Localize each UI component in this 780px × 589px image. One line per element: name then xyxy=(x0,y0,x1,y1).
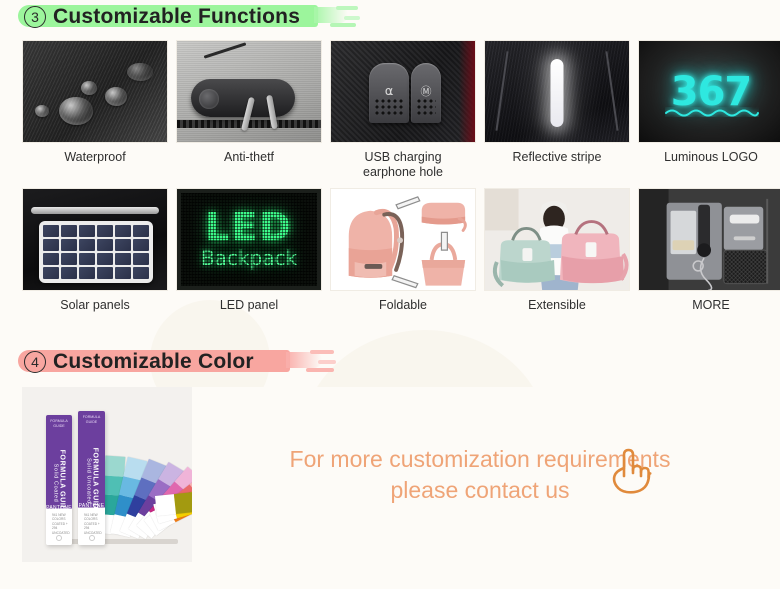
feature-extensible[interactable]: Extensible xyxy=(484,188,630,323)
feature-image-solar-panels xyxy=(22,188,168,291)
page-title: Customizable Functions xyxy=(53,5,300,29)
feature-luminous-logo[interactable]: 367 Luminous LOGO xyxy=(638,40,780,180)
cover-fine-print: 941 NEWCOLORSCOATED + 294UNCOATED xyxy=(84,513,101,535)
feature-image-led-panel: LED Backpack xyxy=(176,188,322,291)
feature-label: LED panel xyxy=(176,291,322,323)
organizer-illustration xyxy=(639,189,780,291)
section-heading-color: 4 Customizable Color xyxy=(0,345,780,379)
feature-solar-panels[interactable]: Solar panels xyxy=(22,188,168,323)
feature-image-extensible xyxy=(484,188,630,291)
feature-usb-charging[interactable]: ⍺ Ⓜ USB charging earphone hole xyxy=(330,40,476,180)
contact-line-1: For more customization requirements xyxy=(202,444,758,475)
features-row-2: Solar panels LED Backpack LED panel xyxy=(0,188,780,323)
feature-image-luminous-logo: 367 xyxy=(638,40,780,143)
section-number: 4 xyxy=(24,351,46,373)
pantone-cover-uncoated: FORMULAGUIDE FORMULA GUIDESolid Uncoated… xyxy=(78,411,105,545)
feature-label: Luminous LOGO xyxy=(638,143,780,175)
feature-label: Extensible xyxy=(484,291,630,323)
cover-fine-print: 941 NEWCOLORSCOATED + 294UNCOATED xyxy=(52,513,68,535)
pantone-brand: PANTONE xyxy=(46,505,72,511)
feature-label: Solar panels xyxy=(22,291,168,323)
feature-label-line1: USB charging xyxy=(364,150,441,164)
feature-label: Reflective stripe xyxy=(484,143,630,175)
feature-image-more xyxy=(638,188,780,291)
contact-line-2: please contact us xyxy=(390,475,569,506)
cover-dot xyxy=(56,535,62,541)
features-row-1: Waterproof Anti-thetf ⍺ Ⓜ xyxy=(0,40,780,180)
extensible-bags-illustration xyxy=(485,189,629,291)
cover-top-text: FORMULAGUIDE xyxy=(50,419,68,429)
feature-label: Anti-thetf xyxy=(176,143,322,175)
feature-waterproof[interactable]: Waterproof xyxy=(22,40,168,180)
feature-label: Waterproof xyxy=(22,143,168,175)
page-title: Customizable Color xyxy=(53,350,254,374)
feature-image-anti-theft xyxy=(176,40,322,143)
feature-image-waterproof xyxy=(22,40,168,143)
feature-foldable[interactable]: Foldable xyxy=(330,188,476,323)
pantone-cover-coated: FORMULAGUIDE FORMULA GUIDESolid Coated P… xyxy=(46,415,72,545)
feature-more[interactable]: MORE xyxy=(638,188,780,323)
wave-icon xyxy=(665,107,759,117)
section-heading-functions: 3 Customizable Functions xyxy=(0,0,780,34)
pantone-guide-image: FORMULAGUIDE FORMULA GUIDESolid Coated P… xyxy=(22,387,192,562)
luminous-logo-text: 367 xyxy=(639,41,780,142)
feature-image-usb-charging: ⍺ Ⓜ xyxy=(330,40,476,143)
contact-message: For more customization requirements plea… xyxy=(192,444,758,506)
cover-dot xyxy=(89,535,95,541)
feature-led-panel[interactable]: LED Backpack LED panel xyxy=(176,188,322,323)
feature-label: MORE xyxy=(638,291,780,323)
feature-image-foldable xyxy=(330,188,476,291)
pantone-brand: PANTONE xyxy=(79,503,105,509)
color-customization-panel: FORMULAGUIDE FORMULA GUIDESolid Coated P… xyxy=(22,387,758,562)
cover-top-text: FORMULAGUIDE xyxy=(83,415,101,425)
feature-label: Foldable xyxy=(330,291,476,323)
feature-anti-theft[interactable]: Anti-thetf xyxy=(176,40,322,180)
feature-image-reflective-stripe xyxy=(484,40,630,143)
section-number: 3 xyxy=(24,6,46,28)
feature-label: USB charging earphone hole xyxy=(330,143,476,180)
feature-label-line2: earphone hole xyxy=(363,165,443,179)
pointing-hand-icon[interactable] xyxy=(609,446,653,496)
feature-reflective-stripe[interactable]: Reflective stripe xyxy=(484,40,630,180)
foldable-bag-illustration xyxy=(331,189,475,291)
